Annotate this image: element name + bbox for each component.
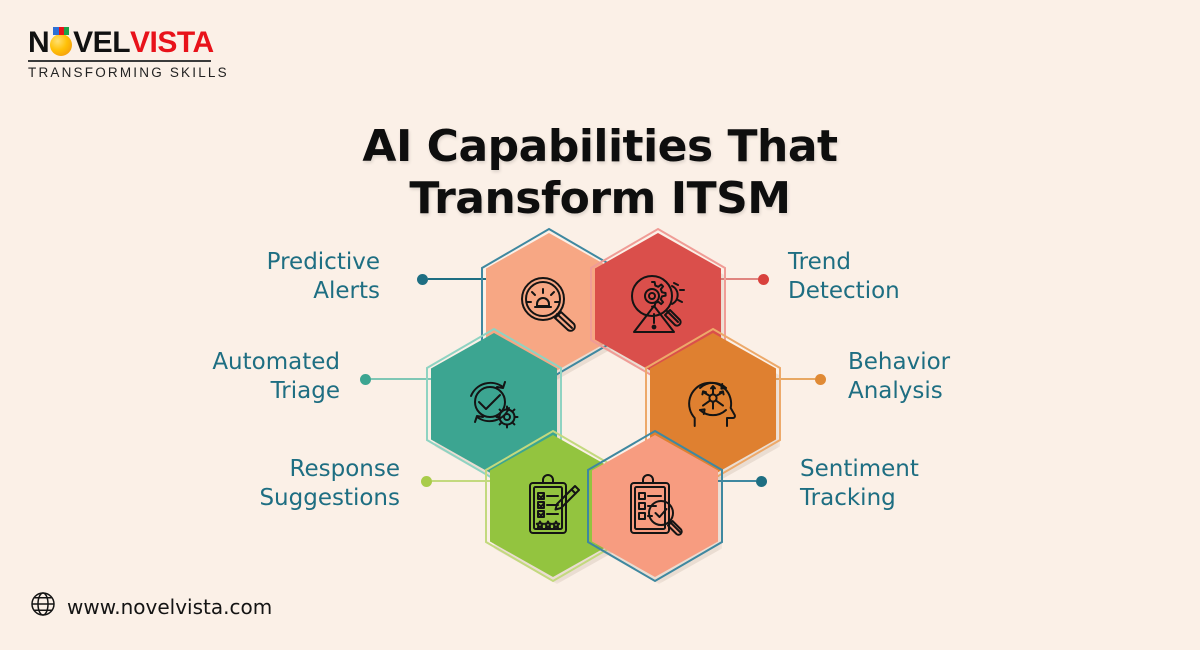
honeycomb-diagram: Predictive Alerts Trend Detection Automa… (0, 215, 1200, 585)
footer: www.novelvista.com (30, 591, 272, 622)
logo-divider (28, 60, 211, 62)
connector-dot-predictive-alerts (417, 274, 428, 285)
hex-node-sentiment-tracking[interactable] (592, 435, 718, 577)
connector-dot-behavior-analysis (815, 374, 826, 385)
logo-wordmark: N VEL VISTA (28, 28, 223, 58)
label-response-suggestions: Response Suggestions (100, 455, 400, 513)
brand-logo: N VEL VISTA TRANSFORMING SKILLS (28, 28, 223, 80)
page-title: AI Capabilities That Transform ITSM (0, 121, 1200, 225)
connector-dot-trend-detection (758, 274, 769, 285)
globe-icon (30, 591, 56, 622)
logo-tagline: TRANSFORMING SKILLS (28, 65, 223, 80)
label-behavior-analysis: Behavior Analysis (848, 348, 1128, 406)
title-line-1: AI Capabilities That (0, 121, 1200, 173)
logo-text-vista: VISTA (130, 28, 214, 58)
label-trend-detection: Trend Detection (788, 248, 1048, 306)
flag-stripes-icon (53, 27, 69, 35)
website-url[interactable]: www.novelvista.com (67, 595, 272, 619)
logo-text-n: N (28, 28, 49, 58)
logo-text-vel: VEL (73, 28, 130, 58)
logo-o-orange-ball-icon (49, 28, 73, 58)
label-predictive-alerts: Predictive Alerts (120, 248, 380, 306)
label-automated-triage: Automated Triage (60, 348, 340, 406)
label-sentiment-tracking: Sentiment Tracking (800, 455, 1100, 513)
orange-ball-icon (50, 34, 72, 56)
clipboard-magnifier-check-icon (592, 435, 718, 577)
connector-dot-automated-triage (360, 374, 371, 385)
